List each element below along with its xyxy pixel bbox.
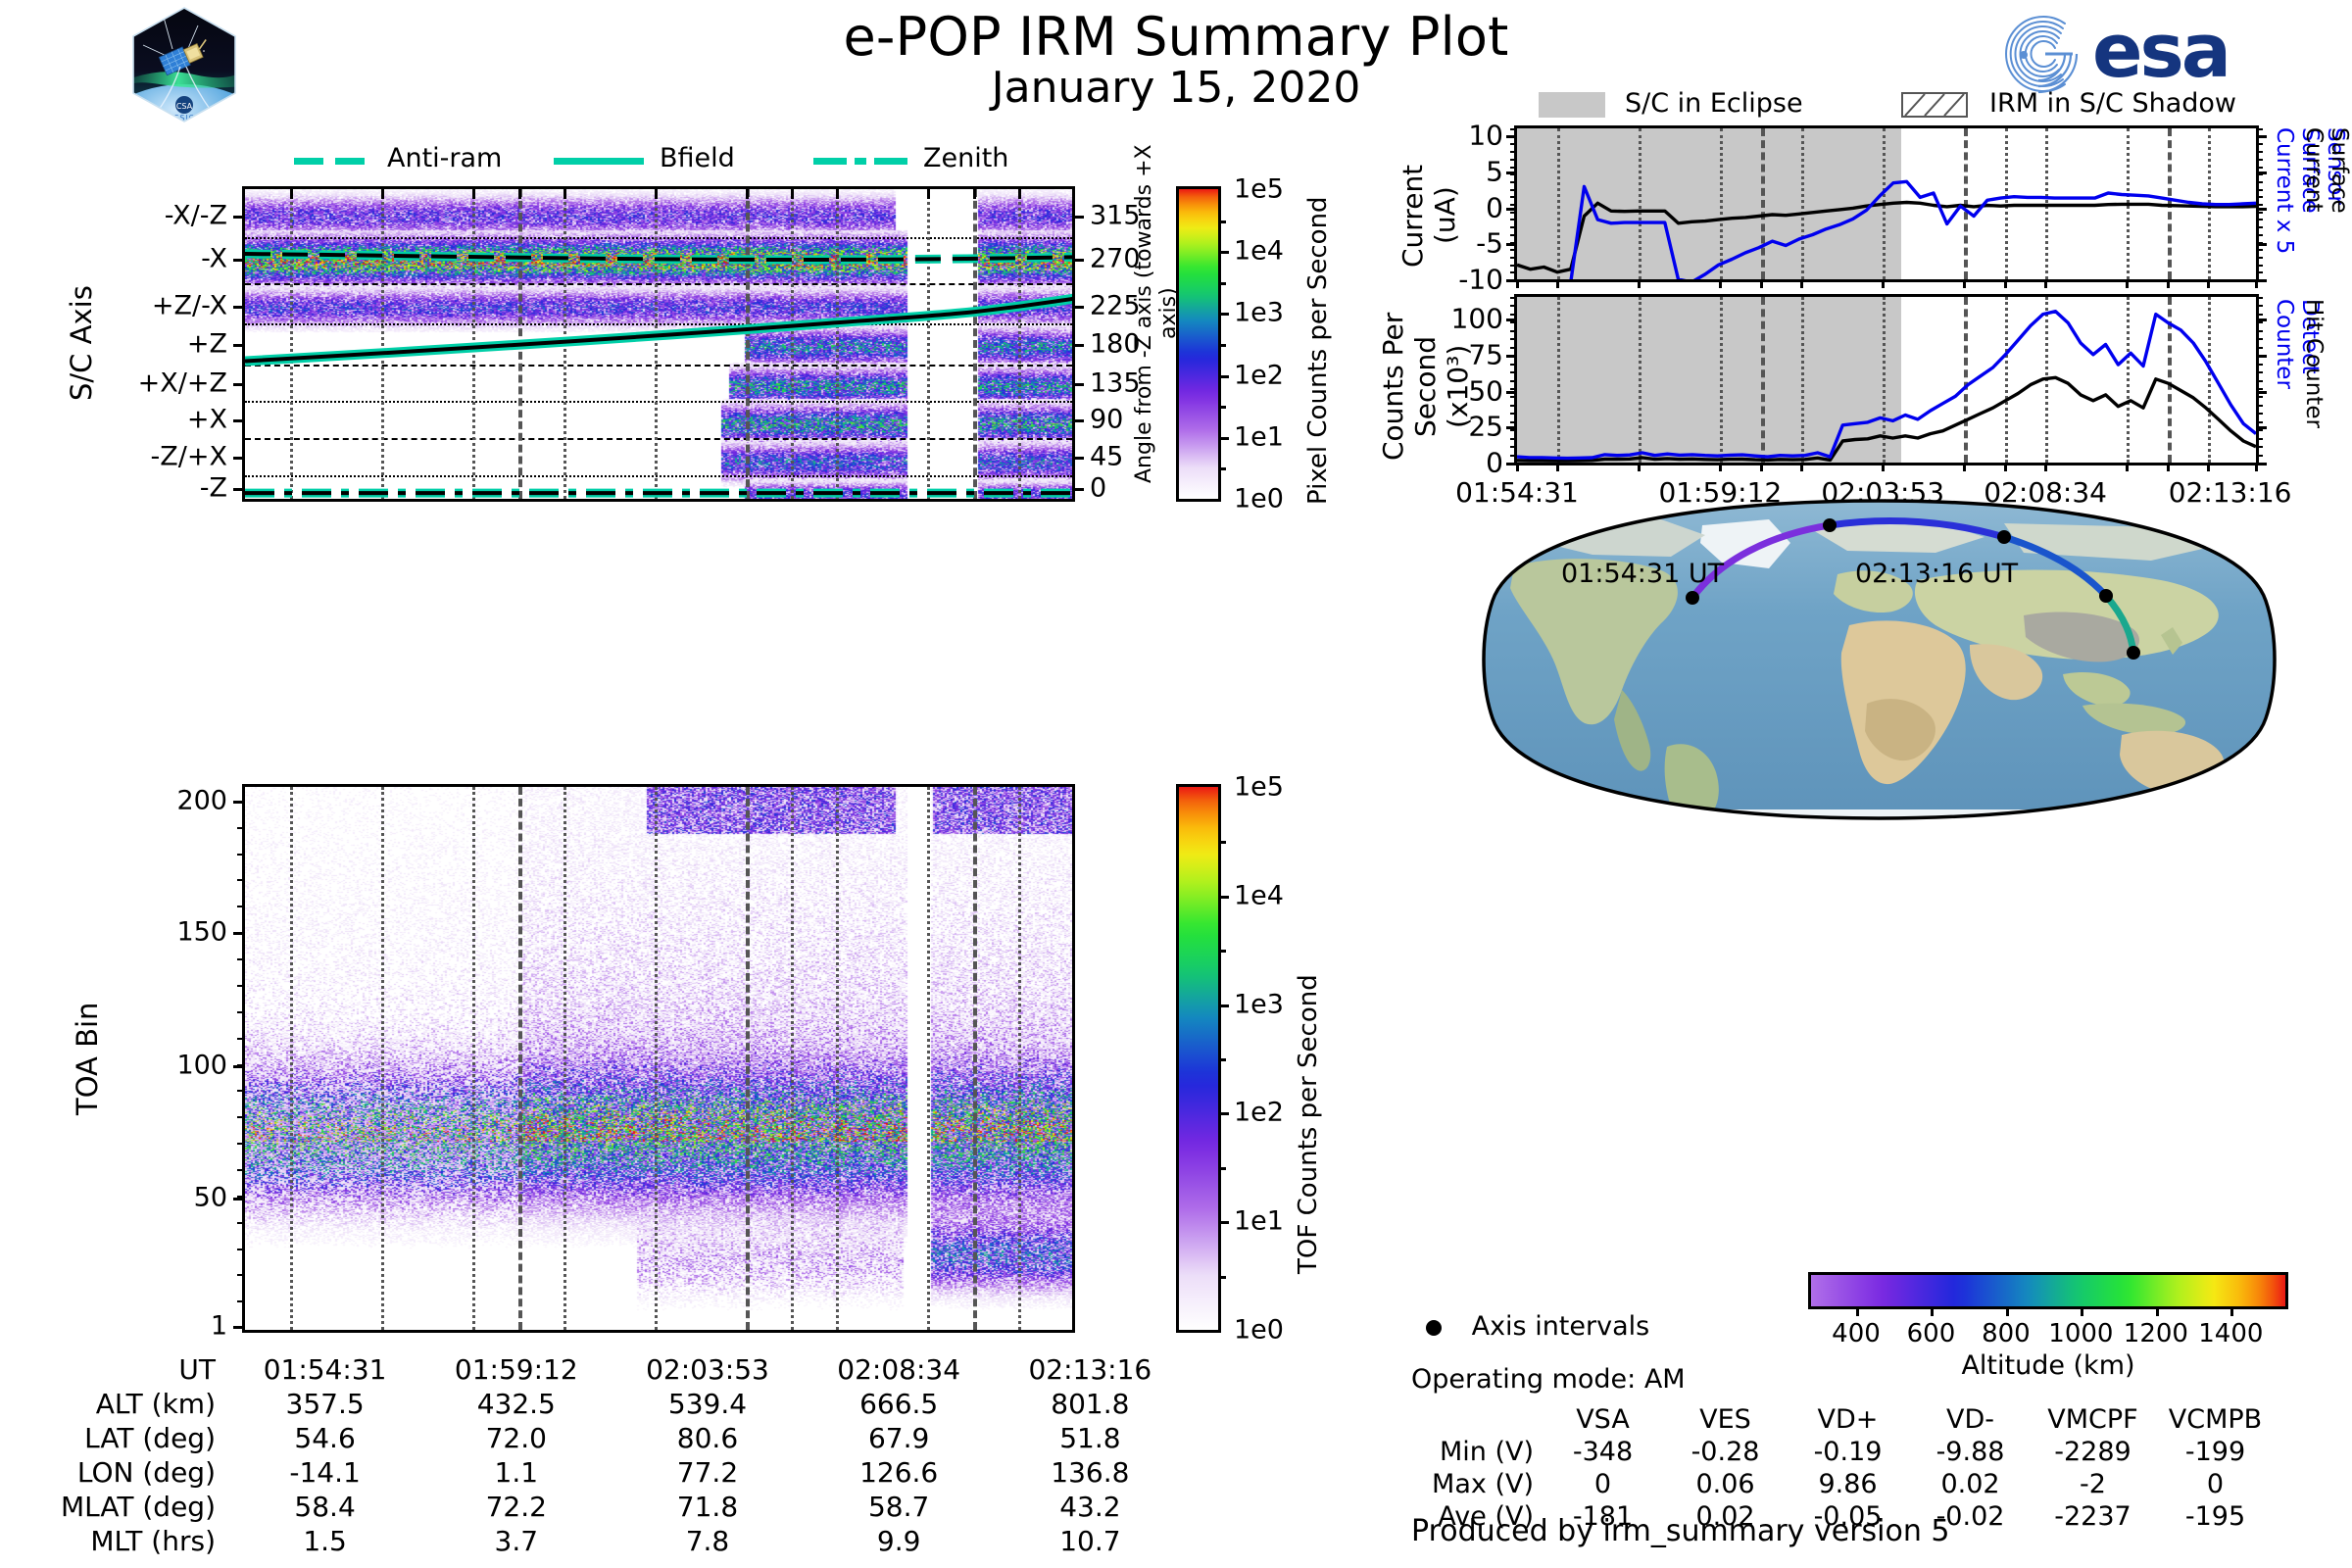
y-label-right: 315 bbox=[1090, 200, 1141, 230]
x-tick bbox=[472, 189, 475, 199]
page-subtitle: January 15, 2020 bbox=[686, 63, 1666, 113]
grid-line bbox=[927, 787, 930, 1330]
x-tick bbox=[1800, 279, 1803, 288]
ephemeris-cell: 3.7 bbox=[420, 1524, 612, 1558]
x-tick bbox=[836, 189, 839, 199]
y-tick-right bbox=[2256, 391, 2267, 394]
altitude-tick-label: 400 bbox=[1832, 1319, 1881, 1348]
esa-logo: esa bbox=[1994, 10, 2259, 98]
ephemeris-cell: 9.9 bbox=[804, 1524, 995, 1558]
y-minor-tick bbox=[1510, 219, 1517, 220]
x-tick bbox=[2126, 279, 2129, 288]
x-tick bbox=[2044, 463, 2047, 471]
y-minor-tick bbox=[1510, 173, 1517, 175]
y-minor-tick bbox=[1510, 249, 1517, 251]
y-minor-tick bbox=[1510, 388, 1517, 390]
y-tick-label: 0 bbox=[1486, 447, 1503, 479]
colorbar-tick-label: 1e0 bbox=[1234, 1315, 1284, 1346]
y-minor-tick bbox=[1510, 196, 1517, 198]
y-minor-tick-right bbox=[2256, 355, 2263, 357]
x-tick bbox=[746, 189, 749, 199]
stats-column-header: VD+ bbox=[1787, 1403, 1909, 1436]
stats-row: Max (V)00.069.860.02-20 bbox=[1411, 1468, 2277, 1500]
altitude-tick-label: 800 bbox=[1982, 1319, 2031, 1348]
colorbar-tick bbox=[1218, 1112, 1229, 1115]
y-tick-label: 75 bbox=[1468, 338, 1503, 370]
x-tick bbox=[1963, 463, 1966, 471]
y-minor-tick-right bbox=[2256, 380, 2263, 382]
y-label: 100 bbox=[176, 1050, 227, 1080]
y-minor-tick-right bbox=[2256, 413, 2263, 415]
stats-column-header: VES bbox=[1664, 1403, 1787, 1436]
ephemeris-cell: 357.5 bbox=[229, 1387, 420, 1421]
y-tick bbox=[1506, 208, 1517, 211]
y-minor-tick-right bbox=[2256, 136, 2263, 138]
y-tick bbox=[1506, 243, 1517, 246]
y-tick-left bbox=[233, 216, 245, 219]
ephemeris-cell: 7.8 bbox=[612, 1524, 803, 1558]
colorbar-minor-tick bbox=[1218, 1276, 1226, 1279]
stats-cell: 0.06 bbox=[1664, 1468, 1787, 1500]
x-tick bbox=[2207, 279, 2210, 288]
ephemeris-row-label: LAT (deg) bbox=[29, 1421, 229, 1455]
stats-cell: 0.02 bbox=[1909, 1468, 2032, 1500]
ephemeris-cell: 136.8 bbox=[995, 1455, 1186, 1490]
tof-counts-spectrogram[interactable]: 200150100501 bbox=[242, 784, 1075, 1333]
ephemeris-cell: 02:08:34 bbox=[804, 1352, 995, 1387]
y-tick bbox=[1506, 391, 1517, 394]
y-minor-tick bbox=[237, 1143, 245, 1145]
y-minor-tick bbox=[1510, 257, 1517, 259]
pixel-counts-colorbar: 1e51e41e31e21e11e0 bbox=[1176, 186, 1221, 502]
map-end-time-label: 02:13:16 UT bbox=[1855, 559, 2018, 589]
ephemeris-cell: 539.4 bbox=[612, 1387, 803, 1421]
stats-cell: -2289 bbox=[2032, 1436, 2154, 1468]
ephemeris-row-label: LON (deg) bbox=[29, 1455, 229, 1490]
legend-label-anti-ram: Anti-ram bbox=[387, 143, 502, 173]
y-minor-tick bbox=[1510, 405, 1517, 407]
stats-cell: -0.19 bbox=[1787, 1436, 1909, 1468]
ephemeris-table: UT01:54:3101:59:1202:03:5302:08:3402:13:… bbox=[29, 1352, 1186, 1558]
y-minor-tick bbox=[237, 1090, 245, 1092]
y-tick-right bbox=[1072, 344, 1084, 347]
grid-line bbox=[836, 787, 839, 1330]
y-minor-tick bbox=[237, 1064, 245, 1066]
x-tick bbox=[1882, 279, 1885, 288]
y-minor-tick bbox=[1510, 189, 1517, 191]
axis-intervals-label: Axis intervals bbox=[1472, 1311, 1650, 1342]
x-tick bbox=[1516, 463, 1519, 471]
y-label: 1 bbox=[211, 1310, 227, 1341]
stats-cell: -0.28 bbox=[1664, 1436, 1787, 1468]
colorbar-tick-label: 1e4 bbox=[1234, 880, 1284, 910]
y-tick-right bbox=[1072, 259, 1084, 262]
y-tick-right bbox=[1072, 216, 1084, 219]
y-minor-tick-right bbox=[2256, 305, 2263, 307]
colorbar-minor-tick bbox=[1218, 220, 1226, 223]
y-tick-left bbox=[233, 306, 245, 309]
spectrogram-legend: Anti-ram Bfield Zenith bbox=[294, 145, 980, 178]
stats-cell: 9.86 bbox=[1787, 1468, 1909, 1500]
current-plot[interactable]: 1050-5-10 bbox=[1514, 125, 2259, 282]
y-minor-tick bbox=[1510, 128, 1517, 130]
page-title: e-POP IRM Summary Plot bbox=[686, 6, 1666, 68]
y-minor-tick bbox=[1510, 438, 1517, 440]
y-minor-tick-right bbox=[2256, 257, 2263, 259]
ephemeris-row: LAT (deg)54.672.080.667.951.8 bbox=[29, 1421, 1186, 1455]
colorbar-minor-tick bbox=[1218, 1058, 1226, 1061]
y-minor-tick bbox=[1510, 338, 1517, 340]
stats-column-header: VMCPF bbox=[2032, 1403, 2154, 1436]
pixel-counts-colorbar-title: Pixel Counts per Second bbox=[1303, 181, 1333, 505]
ephemeris-cell: 54.6 bbox=[229, 1421, 420, 1455]
y-minor-tick-right bbox=[2256, 167, 2263, 169]
x-tick bbox=[1556, 279, 1559, 288]
y-label-right: 45 bbox=[1090, 442, 1123, 472]
y-tick-label: -5 bbox=[1476, 227, 1503, 260]
y-minor-tick bbox=[1510, 330, 1517, 332]
y-tick-left bbox=[233, 457, 245, 460]
produced-by-label: Produced by irm_summary version 5 bbox=[1411, 1514, 1949, 1548]
x-tick bbox=[2167, 463, 2170, 471]
y-label-left: -Z/+X bbox=[151, 442, 227, 472]
x-tick bbox=[2044, 279, 2047, 288]
ephemeris-cell: 77.2 bbox=[612, 1455, 803, 1490]
eclipse-legend: S/C in Eclipse IRM in S/C Shadow bbox=[1539, 88, 2283, 123]
ephemeris-cell: 01:54:31 bbox=[229, 1352, 420, 1387]
y-label: 50 bbox=[194, 1182, 227, 1212]
tof-counts-colorbar: 1e51e41e31e21e11e0 bbox=[1176, 784, 1221, 1333]
y-minor-tick bbox=[237, 1274, 245, 1276]
cassiope-mission-patch-icon: CSA CASSIOPE bbox=[125, 6, 243, 123]
colorbar-tick bbox=[1218, 896, 1229, 899]
y-minor-tick bbox=[1510, 242, 1517, 244]
grid-line bbox=[381, 787, 384, 1330]
y-minor-tick-right bbox=[2256, 151, 2263, 153]
y-label-left: -X/-Z bbox=[165, 200, 227, 230]
y-minor-tick-right bbox=[2256, 321, 2263, 323]
y-minor-tick bbox=[1510, 212, 1517, 214]
spectrogram-ylabel-left: S/C Axis bbox=[65, 220, 98, 465]
grid-line bbox=[746, 787, 750, 1330]
x-tick bbox=[1719, 463, 1722, 471]
pixel-counts-spectrogram[interactable]: -X/-Z315-X270+Z/-X225+Z180+X/+Z135+X90-Z… bbox=[242, 186, 1075, 502]
y-minor-tick bbox=[237, 801, 245, 803]
grid-line bbox=[973, 787, 977, 1330]
overlay-lines bbox=[245, 189, 1072, 499]
x-tick bbox=[655, 189, 658, 199]
y-minor-tick-right bbox=[2256, 265, 2263, 267]
legend-label-zenith: Zenith bbox=[923, 143, 1008, 173]
y-minor-tick-right bbox=[2256, 297, 2263, 299]
y-minor-tick bbox=[1510, 143, 1517, 145]
series-sensor-surface-current-x-5 bbox=[1517, 181, 2256, 279]
y-minor-tick-right bbox=[2256, 438, 2263, 440]
colorbar-tick-label: 1e1 bbox=[1234, 1206, 1284, 1237]
altitude-tick-label: 1200 bbox=[2124, 1319, 2188, 1348]
y-tick-label: 0 bbox=[1486, 191, 1503, 223]
ephemeris-cell: 71.8 bbox=[612, 1490, 803, 1524]
y-minor-tick-right bbox=[2256, 173, 2263, 175]
toa-ylabel: TOA Bin bbox=[71, 970, 104, 1147]
altitude-tick bbox=[2230, 1306, 2233, 1316]
y-minor-tick bbox=[237, 958, 245, 960]
ephemeris-row: UT01:54:3101:59:1202:03:5302:08:3402:13:… bbox=[29, 1352, 1186, 1387]
x-tick bbox=[1719, 279, 1722, 288]
y-minor-tick-right bbox=[2256, 128, 2263, 130]
y-tick-label: 50 bbox=[1468, 374, 1503, 407]
ephemeris-cell: 1.1 bbox=[420, 1455, 612, 1490]
ephemeris-cell: 80.6 bbox=[612, 1421, 803, 1455]
colorbar-minor-tick bbox=[1218, 841, 1226, 844]
ephemeris-cell: 58.4 bbox=[229, 1490, 420, 1524]
grid-line bbox=[655, 787, 658, 1330]
altitude-tick bbox=[1856, 1306, 1859, 1316]
ephemeris-cell: 67.9 bbox=[804, 1421, 995, 1455]
legend-label-shadow: IRM in S/C Shadow bbox=[1989, 88, 2236, 119]
colorbar-tick bbox=[1218, 437, 1229, 440]
y-minor-tick-right bbox=[2256, 371, 2263, 373]
ephemeris-row-label: UT bbox=[29, 1352, 229, 1387]
y-tick bbox=[233, 1198, 245, 1200]
x-tick bbox=[1638, 279, 1641, 288]
y-minor-tick bbox=[1510, 234, 1517, 236]
altitude-tick bbox=[2156, 1306, 2159, 1316]
stats-column-header: VSA bbox=[1542, 1403, 1664, 1436]
y-minor-tick-right bbox=[2256, 388, 2263, 390]
grid-line bbox=[518, 787, 522, 1330]
colorbar-tick-label: 1e3 bbox=[1234, 989, 1284, 1019]
y-minor-tick bbox=[1510, 204, 1517, 206]
y-label-left: +Z bbox=[187, 329, 227, 360]
ephemeris-row-label: ALT (km) bbox=[29, 1387, 229, 1421]
y-tick-label: 5 bbox=[1486, 156, 1503, 188]
y-tick-right bbox=[1072, 457, 1084, 460]
counts-plot[interactable]: 100755025001:54:3101:59:1202:03:5302:08:… bbox=[1514, 294, 2259, 465]
y-tick-right bbox=[1072, 306, 1084, 309]
y-tick-left bbox=[233, 419, 245, 422]
y-minor-tick bbox=[1510, 455, 1517, 457]
y-minor-tick bbox=[1510, 305, 1517, 307]
x-tick bbox=[2255, 463, 2258, 471]
current-ylabel: Current (uA) bbox=[1396, 147, 1461, 284]
altitude-colorbar: 400600800100012001400 bbox=[1808, 1272, 2288, 1309]
y-minor-tick bbox=[237, 854, 245, 856]
x-tick bbox=[791, 189, 794, 199]
colorbar-minor-tick bbox=[1218, 467, 1226, 470]
ephemeris-cell: 72.0 bbox=[420, 1421, 612, 1455]
y-minor-tick bbox=[1510, 446, 1517, 448]
y-label-left: +X/+Z bbox=[138, 367, 227, 398]
series-lines bbox=[1517, 297, 2256, 463]
colorbar-tick bbox=[1218, 1221, 1229, 1224]
colorbar-tick bbox=[1218, 313, 1229, 316]
y-tick-label: -10 bbox=[1458, 264, 1503, 296]
series-sensor-surface-current bbox=[1517, 203, 2256, 272]
y-label-left: +Z/-X bbox=[152, 290, 227, 320]
x-tick bbox=[973, 189, 976, 199]
orbit-marker-dot bbox=[2127, 646, 2140, 660]
y-label-left: -X bbox=[201, 244, 227, 274]
grid-line bbox=[791, 787, 794, 1330]
y-tick-right bbox=[2256, 208, 2267, 211]
y-minor-tick-right bbox=[2256, 242, 2263, 244]
stats-row-label: Min (V) bbox=[1411, 1436, 1542, 1468]
colorbar-tick bbox=[1218, 1004, 1229, 1007]
ephemeris-cell: 43.2 bbox=[995, 1490, 1186, 1524]
y-minor-tick bbox=[1510, 265, 1517, 267]
y-minor-tick bbox=[1510, 314, 1517, 316]
ephemeris-row-label: MLT (hrs) bbox=[29, 1524, 229, 1558]
x-tick bbox=[1018, 189, 1021, 199]
y-label-right: 0 bbox=[1090, 472, 1106, 503]
y-minor-tick-right bbox=[2256, 196, 2263, 198]
x-tick bbox=[518, 189, 521, 199]
y-tick-right bbox=[2256, 243, 2267, 246]
y-label-right: 180 bbox=[1090, 329, 1141, 360]
colorbar-minor-tick bbox=[1218, 344, 1226, 347]
y-minor-tick-right bbox=[2256, 249, 2263, 251]
y-label-left: -Z bbox=[200, 472, 227, 503]
y-minor-tick-right bbox=[2256, 219, 2263, 220]
ephemeris-cell: 801.8 bbox=[995, 1387, 1186, 1421]
colorbar-tick bbox=[1218, 375, 1229, 378]
y-minor-tick-right bbox=[2256, 143, 2263, 145]
colorbar-tick-label: 1e0 bbox=[1234, 484, 1284, 514]
y-minor-tick-right bbox=[2256, 204, 2263, 206]
ephemeris-row: MLAT (deg)58.472.271.858.743.2 bbox=[29, 1490, 1186, 1524]
ephemeris-row: MLT (hrs)1.53.77.89.910.7 bbox=[29, 1524, 1186, 1558]
ephemeris-cell: 126.6 bbox=[804, 1455, 995, 1490]
y-label-right: 135 bbox=[1090, 367, 1141, 398]
colorbar-tick bbox=[1218, 251, 1229, 254]
y-minor-tick-right bbox=[2256, 314, 2263, 316]
y-label-right: 225 bbox=[1090, 290, 1141, 320]
stats-cell: -2 bbox=[2032, 1468, 2154, 1500]
y-tick-label: 25 bbox=[1468, 411, 1503, 443]
orbit-marker-dot bbox=[1686, 591, 1699, 605]
y-minor-tick bbox=[237, 1196, 245, 1198]
x-tick bbox=[2004, 463, 2007, 471]
y-minor-tick bbox=[237, 1222, 245, 1224]
altitude-tick-label: 600 bbox=[1907, 1319, 1956, 1348]
y-minor-tick bbox=[237, 879, 245, 881]
x-tick bbox=[290, 189, 293, 199]
stats-cell: -9.88 bbox=[1909, 1436, 2032, 1468]
grid-line bbox=[563, 787, 566, 1330]
y-tick-left bbox=[233, 344, 245, 347]
y-minor-tick-right bbox=[2256, 347, 2263, 349]
y-minor-tick bbox=[1510, 355, 1517, 357]
y-minor-tick bbox=[237, 932, 245, 934]
y-minor-tick bbox=[237, 1300, 245, 1302]
y-tick-label: 100 bbox=[1451, 303, 1503, 335]
ephemeris-row: LON (deg)-14.11.177.2126.6136.8 bbox=[29, 1455, 1186, 1490]
y-minor-tick bbox=[237, 906, 245, 907]
x-tick bbox=[563, 189, 566, 199]
colorbar-tick-label: 1e3 bbox=[1234, 298, 1284, 328]
y-minor-tick-right bbox=[2256, 429, 2263, 431]
grid-line bbox=[1018, 787, 1021, 1330]
ephemeris-cell: 72.2 bbox=[420, 1490, 612, 1524]
series-lines bbox=[1517, 128, 2256, 279]
colorbar-minor-tick bbox=[1218, 1167, 1226, 1170]
y-minor-tick bbox=[237, 1249, 245, 1250]
y-minor-tick bbox=[237, 827, 245, 829]
altitude-colorbar-title: Altitude (km) bbox=[1862, 1350, 2234, 1381]
y-minor-tick bbox=[1510, 421, 1517, 423]
eclipse-swatch-icon bbox=[1539, 92, 1605, 118]
orbit-track-map[interactable]: 01:54:31 UT 02:13:16 UT bbox=[1475, 498, 2283, 821]
x-tick bbox=[1556, 463, 1559, 471]
y-minor-tick bbox=[1510, 159, 1517, 161]
stats-column-header: VD- bbox=[1909, 1403, 2032, 1436]
y-minor-tick bbox=[1510, 136, 1517, 138]
y-minor-tick-right bbox=[2256, 455, 2263, 457]
stats-header-row: VSAVESVD+VD-VMCPFVCMPB bbox=[1411, 1403, 2277, 1436]
y-minor-tick-right bbox=[2256, 364, 2263, 366]
altitude-tick-label: 1400 bbox=[2198, 1319, 2263, 1348]
ephemeris-cell: 666.5 bbox=[804, 1387, 995, 1421]
colorbar-tick-label: 1e1 bbox=[1234, 421, 1284, 452]
y-minor-tick bbox=[1510, 364, 1517, 366]
y-minor-tick-right bbox=[2256, 271, 2263, 273]
stats-corner bbox=[1411, 1403, 1542, 1436]
stats-row: Min (V)-348-0.28-0.19-9.88-2289-199 bbox=[1411, 1436, 2277, 1468]
operating-mode-label: Operating mode: AM bbox=[1411, 1364, 1686, 1395]
x-tick bbox=[1638, 463, 1641, 471]
x-tick bbox=[1760, 463, 1763, 471]
tof-counts-image bbox=[245, 787, 1072, 1330]
stats-cell: 0 bbox=[1542, 1468, 1664, 1500]
axis-interval-dot-icon bbox=[1426, 1320, 1442, 1336]
x-tick bbox=[1963, 279, 1966, 288]
y-tick-left bbox=[233, 259, 245, 262]
ephemeris-cell: 51.8 bbox=[995, 1421, 1186, 1455]
y-minor-tick bbox=[237, 1116, 245, 1118]
colorbar-minor-tick bbox=[1218, 406, 1226, 409]
stats-cell: -195 bbox=[2154, 1500, 2277, 1533]
ephemeris-row-label: MLAT (deg) bbox=[29, 1490, 229, 1524]
y-tick bbox=[233, 1326, 245, 1329]
y-minor-tick-right bbox=[2256, 189, 2263, 191]
stats-row-label: Max (V) bbox=[1411, 1468, 1542, 1500]
y-minor-tick bbox=[1510, 297, 1517, 299]
y-label-right: 90 bbox=[1090, 405, 1123, 435]
x-tick bbox=[1760, 279, 1763, 288]
counts-right-label-black: Hit Counter bbox=[2301, 299, 2327, 461]
y-tick-label: 10 bbox=[1468, 120, 1503, 152]
x-tick bbox=[2126, 463, 2129, 471]
y-label-left: +X bbox=[187, 405, 227, 435]
x-tick bbox=[1516, 279, 1519, 288]
y-tick-left bbox=[233, 383, 245, 386]
y-tick-left bbox=[233, 488, 245, 491]
ephemeris-cell: 432.5 bbox=[420, 1387, 612, 1421]
x-tick bbox=[381, 189, 384, 199]
x-tick bbox=[927, 189, 930, 199]
y-minor-tick-right bbox=[2256, 405, 2263, 407]
y-minor-tick bbox=[1510, 347, 1517, 349]
x-tick bbox=[2167, 279, 2170, 288]
y-minor-tick bbox=[1510, 226, 1517, 228]
stats-cell: -348 bbox=[1542, 1436, 1664, 1468]
y-minor-tick-right bbox=[2256, 338, 2263, 340]
y-minor-tick bbox=[1510, 396, 1517, 398]
orbit-marker-dot bbox=[1823, 518, 1837, 532]
x-tick bbox=[2207, 463, 2210, 471]
shadow-hatch-icon bbox=[1901, 92, 1968, 118]
